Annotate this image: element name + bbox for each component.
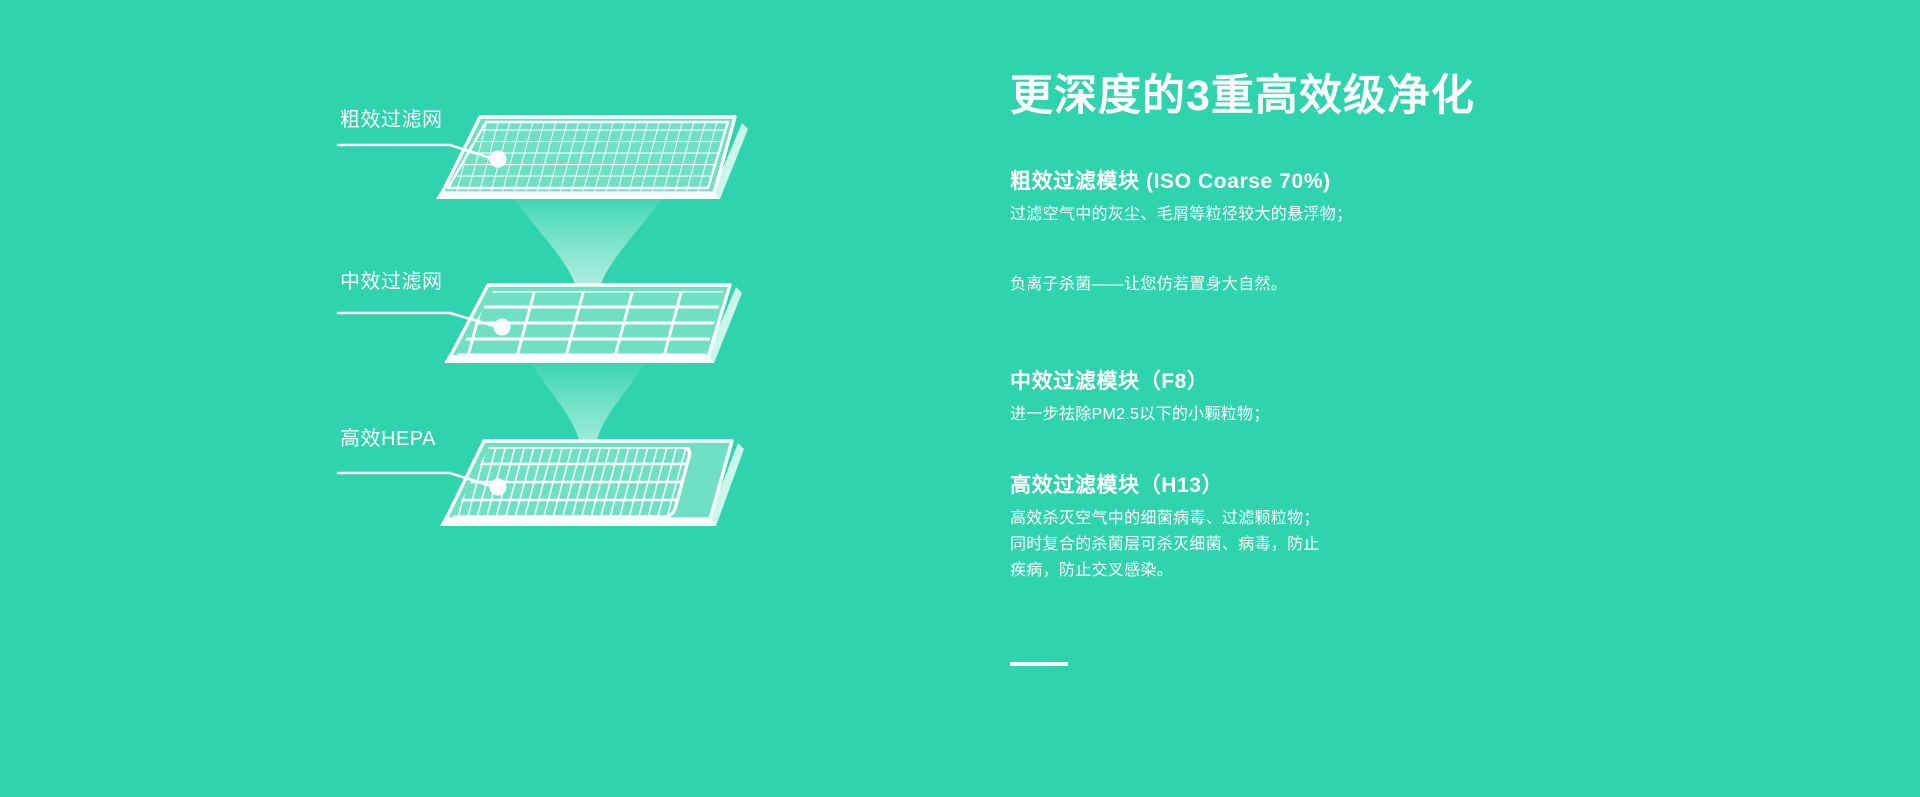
module-desc-medium: 进一步祛除PM2.5以下的小颗粒物； [1010,402,1630,428]
spacer [1010,228,1630,272]
module-desc-hepa: 高效杀灭空气中的细菌病毒、过滤颗粒物； 同时复合的杀菌层可杀灭细菌、病毒，防止 … [1010,506,1630,584]
module-desc-line: 过滤空气中的灰尘、毛屑等粒径较大的悬浮物； [1010,202,1630,228]
layer-label-coarse: 粗效过滤网 [340,110,443,130]
filter-layer-hepa [373,441,744,526]
ionizer-note: 负离子杀菌——让您仿若置身大自然。 [1010,272,1630,298]
module-title-coarse: 粗效过滤模块 (ISO Coarse 70%) [1010,168,1630,195]
module-desc-line: 进一步祛除PM2.5以下的小颗粒物； [1010,402,1630,428]
module-desc-line: 同时复合的杀菌层可杀灭细菌、病毒，防止 [1010,532,1630,558]
bottom-divider [1010,662,1068,666]
copy-column: 更深度的3重高效级净化 粗效过滤模块 (ISO Coarse 70%) 过滤空气… [1010,72,1630,584]
module-desc-line: 疾病，防止交叉感染。 [1010,558,1630,584]
layer-label-hepa: 高效HEPA [340,429,436,449]
infographic-canvas: 粗效过滤网 中效过滤网 高效HEPA 更深度的3重高效级净化 粗效过滤模块 (I… [0,0,1920,797]
module-block-medium: 中效过滤模块（F8） 进一步祛除PM2.5以下的小颗粒物； [1010,368,1630,428]
spacer [1010,342,1630,368]
spacer [1010,298,1630,342]
layer-label-medium: 中效过滤网 [340,272,443,292]
module-title-hepa: 高效过滤模块（H13） [1010,472,1630,499]
filter-stack-illustration [390,95,950,655]
filter-layer-medium [420,285,742,363]
module-block-hepa: 高效过滤模块（H13） 高效杀灭空气中的细菌病毒、过滤颗粒物； 同时复合的杀菌层… [1010,472,1630,584]
filter-stack-svg [390,95,950,655]
module-desc-line: 高效杀灭空气中的细菌病毒、过滤颗粒物； [1010,506,1630,532]
module-title-medium: 中效过滤模块（F8） [1010,368,1630,395]
module-block-coarse: 粗效过滤模块 (ISO Coarse 70%) 过滤空气中的灰尘、毛屑等粒径较大… [1010,168,1630,228]
page-title: 更深度的3重高效级净化 [1010,72,1630,120]
module-desc-coarse: 过滤空气中的灰尘、毛屑等粒径较大的悬浮物； [1010,202,1630,228]
spacer [1010,428,1630,472]
